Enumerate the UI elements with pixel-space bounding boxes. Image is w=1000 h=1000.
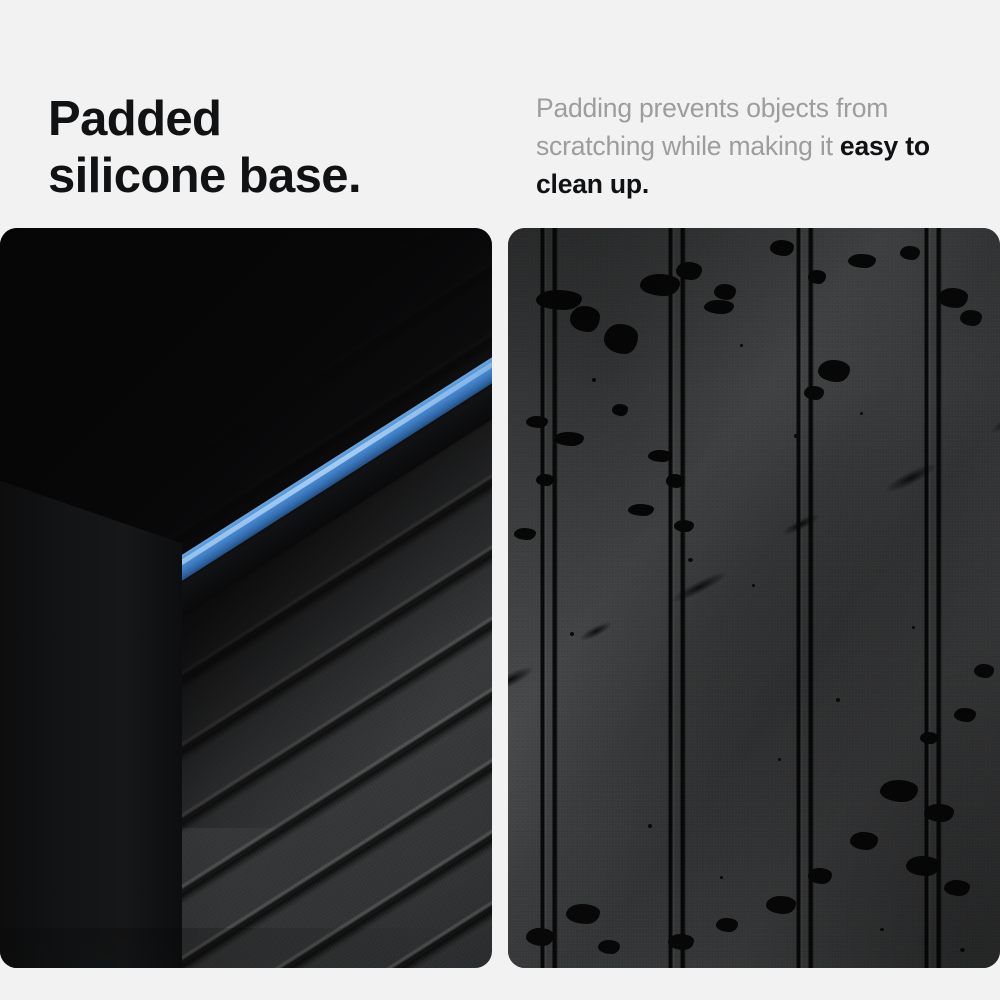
subcopy-muted-text: Padding prevents objects from scratching… — [536, 93, 888, 161]
page-subcopy: Padding prevents objects from scratching… — [536, 89, 976, 203]
header: Padded silicone base. Padding prevents o… — [0, 0, 1000, 228]
tray-side-wall — [0, 478, 182, 968]
padded-silicone-base-photo: Silicone padding — [0, 228, 492, 968]
image-panels: Silicone padding — [0, 228, 1000, 976]
easy-clean-surface-photo — [508, 228, 1000, 968]
surface-grain-texture — [508, 228, 1000, 968]
page-title: Padded silicone base. — [48, 91, 478, 205]
tray-scene — [0, 228, 492, 968]
